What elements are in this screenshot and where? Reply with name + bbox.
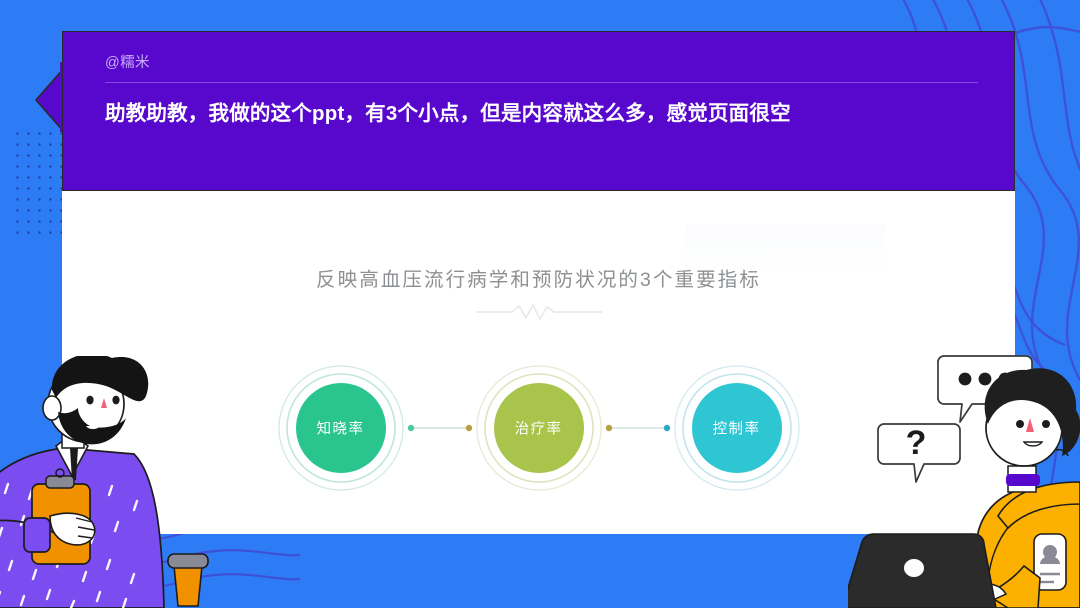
ecg-zigzag-decoration xyxy=(62,301,1015,323)
header-notch xyxy=(34,62,64,132)
speech-bubble-question: ? xyxy=(878,424,960,482)
flow-connector-2 xyxy=(604,418,672,438)
flow-node-label: 知晓率 xyxy=(276,418,406,439)
flow-connector-1 xyxy=(406,418,474,438)
dot-grid-pattern xyxy=(12,128,68,236)
author-handle[interactable]: @糯米 xyxy=(105,56,978,82)
coffee-cup xyxy=(160,546,216,608)
flow-node-control[interactable]: 控制率 xyxy=(672,354,802,502)
flow-node-awareness[interactable]: 知晓率 xyxy=(276,354,406,502)
flow-node-label: 控制率 xyxy=(672,418,802,439)
illustration-woman-at-laptop: ? xyxy=(848,346,1080,608)
svg-text:?: ? xyxy=(906,424,927,462)
flow-node-treatment[interactable]: 治疗率 xyxy=(474,354,604,502)
header-divider xyxy=(105,82,978,83)
slide-title: 反映高血压流行病学和预防状况的3个重要指标 xyxy=(62,263,1015,292)
post-header: @糯米 助教助教，我做的这个ppt，有3个小点，但是内容就这么多，感觉页面很空 xyxy=(62,31,1015,191)
post-title: 助教助教，我做的这个ppt，有3个小点，但是内容就这么多，感觉页面很空 xyxy=(105,99,978,129)
flow-node-label: 治疗率 xyxy=(474,418,604,439)
